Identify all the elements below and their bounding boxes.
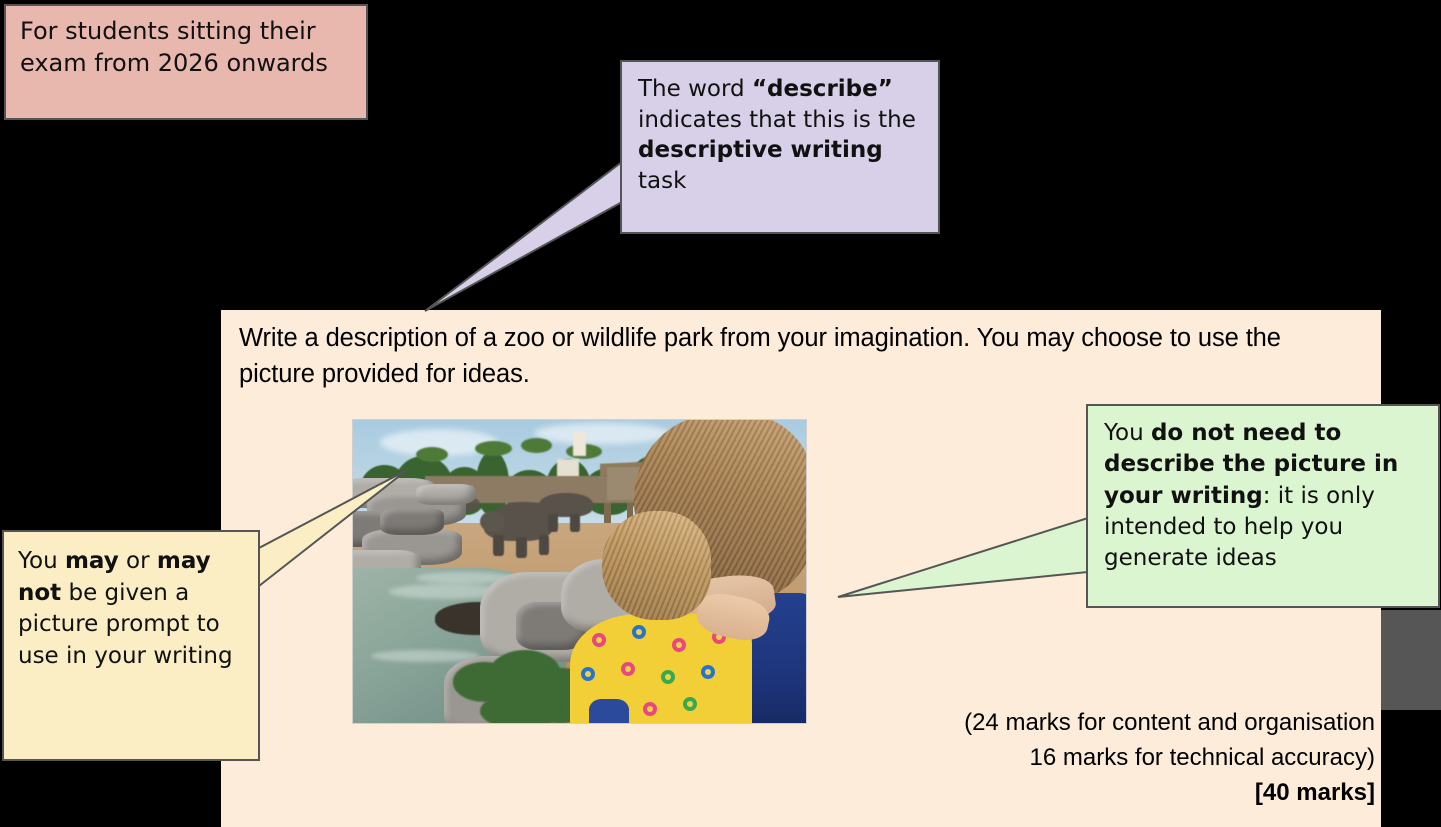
callout-describe-seg-bold: “describe” bbox=[752, 76, 893, 102]
picture-optional-callout-tail bbox=[259, 470, 407, 586]
callout-describe-seg: task bbox=[638, 168, 686, 194]
callout-picture-seg: You bbox=[18, 548, 65, 574]
callout-exam-year-text: For students sitting their exam from 202… bbox=[20, 16, 352, 79]
callout-notdescribe-seg: You bbox=[1104, 420, 1151, 446]
describe-callout-tail bbox=[425, 162, 622, 311]
callout-exam-year: For students sitting their exam from 202… bbox=[4, 4, 368, 120]
callout-picture-seg: or bbox=[119, 548, 157, 574]
callout-describe-seg-bold: descriptive writing bbox=[638, 137, 883, 163]
callout-describe-seg: indicates that this is the bbox=[638, 107, 916, 133]
annotated-exam-question: Write a description of a zoo or wildlife… bbox=[0, 0, 1441, 827]
callout-not-describe: You do not need to describe the picture … bbox=[1086, 404, 1440, 608]
not-describe-callout-tail bbox=[838, 518, 1088, 597]
callout-picture-seg-bold: may bbox=[65, 548, 119, 574]
callout-describe: The word “describe” indicates that this … bbox=[620, 60, 940, 234]
callout-picture-optional: You may or may not be given a picture pr… bbox=[2, 530, 260, 761]
callout-describe-seg: The word bbox=[638, 76, 752, 102]
